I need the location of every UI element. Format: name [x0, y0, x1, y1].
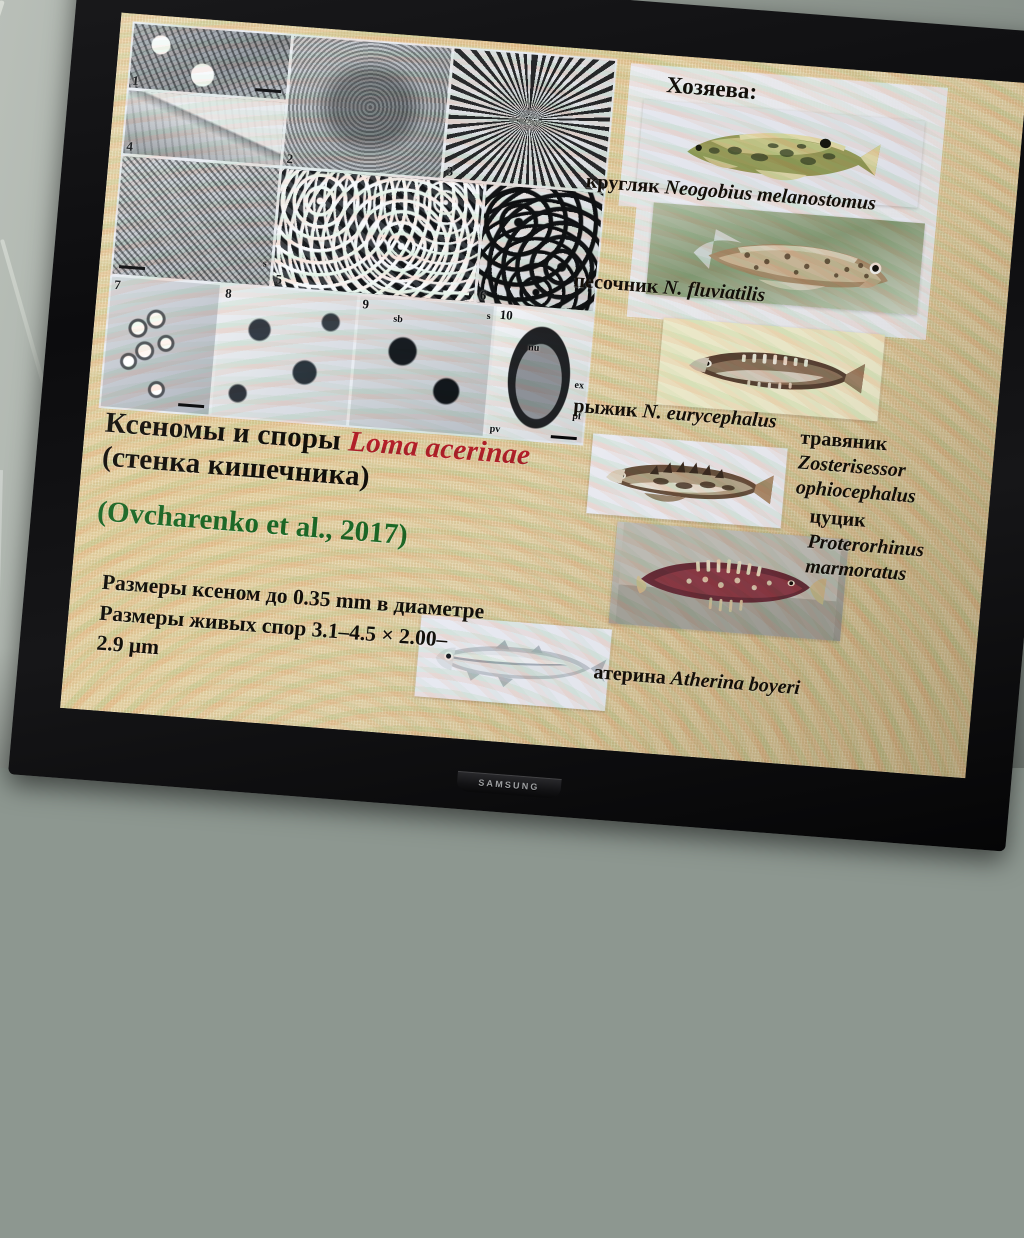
micrograph-panel-5: 5 — [272, 169, 484, 302]
scale-bar-icon — [443, 290, 469, 295]
micrograph-panel-10: 10 nu ex pf pv — [486, 307, 592, 444]
micrograph-panel-4: 4 — [123, 90, 286, 165]
panel-tag-pv: pv — [489, 424, 500, 435]
micrograph-panel-4b: s — [112, 156, 279, 286]
television: 1 2 3 4 s — [8, 0, 1024, 852]
caption-tubenose-goby: цуцик Proterorhinus marmoratus — [804, 504, 990, 593]
wall-seam — [0, 470, 3, 1238]
micrograph-plate: 1 2 3 4 s — [98, 22, 616, 446]
panel-number: 6 — [479, 288, 487, 301]
panel-number: 5 — [275, 272, 283, 285]
panel-tag-s: s — [486, 312, 491, 322]
panel-number: 3 — [446, 164, 454, 177]
micrograph-panel-3: 3 — [443, 49, 615, 191]
panel-number: 4 — [126, 139, 134, 152]
panel-tag-s: s — [262, 259, 267, 269]
scale-bar-icon — [550, 435, 576, 440]
tv-screen: 1 2 3 4 s — [60, 13, 1024, 779]
panel-number: 7 — [114, 278, 122, 291]
panel-number: 1 — [132, 73, 140, 86]
scale-bar-icon — [255, 88, 281, 93]
micrograph-panel-9: 9 sb s — [349, 296, 495, 436]
panel-number: 8 — [225, 287, 233, 300]
measurements-block: Размеры ксеном до 0.35 mm в диаметре Раз… — [95, 567, 485, 688]
citation-reference: (Ovcharenko et al., 2017) — [96, 495, 409, 553]
panel-number: 9 — [362, 297, 370, 310]
scale-bar-icon — [119, 265, 145, 270]
tv-brand-label: SAMSUNG — [478, 778, 540, 793]
photo-grass-goby — [586, 433, 788, 529]
panel-tag-ex: ex — [574, 380, 584, 391]
panel-tag-nu: nu — [528, 343, 540, 354]
micrograph-panel-1: 1 — [129, 24, 292, 99]
scale-bar-icon — [178, 403, 204, 408]
micrograph-panel-8: 8 — [212, 285, 358, 425]
panel-tag-sb: sb — [393, 314, 403, 325]
wall-edge-upper-left — [0, 0, 5, 230]
caption-grass-goby: травяник Zosterisessor ophiocephalus — [795, 425, 981, 514]
presentation-slide: 1 2 3 4 s — [60, 13, 1024, 779]
panel-number: 2 — [286, 152, 294, 165]
panel-number: 10 — [499, 308, 513, 322]
grass-goby-illustration — [586, 433, 788, 529]
caption-sand-smelt: атерина Atherina boyeri — [593, 661, 801, 700]
micrograph-panel-7: 7 — [101, 277, 220, 415]
micrograph-panel-2: 2 — [283, 36, 452, 177]
